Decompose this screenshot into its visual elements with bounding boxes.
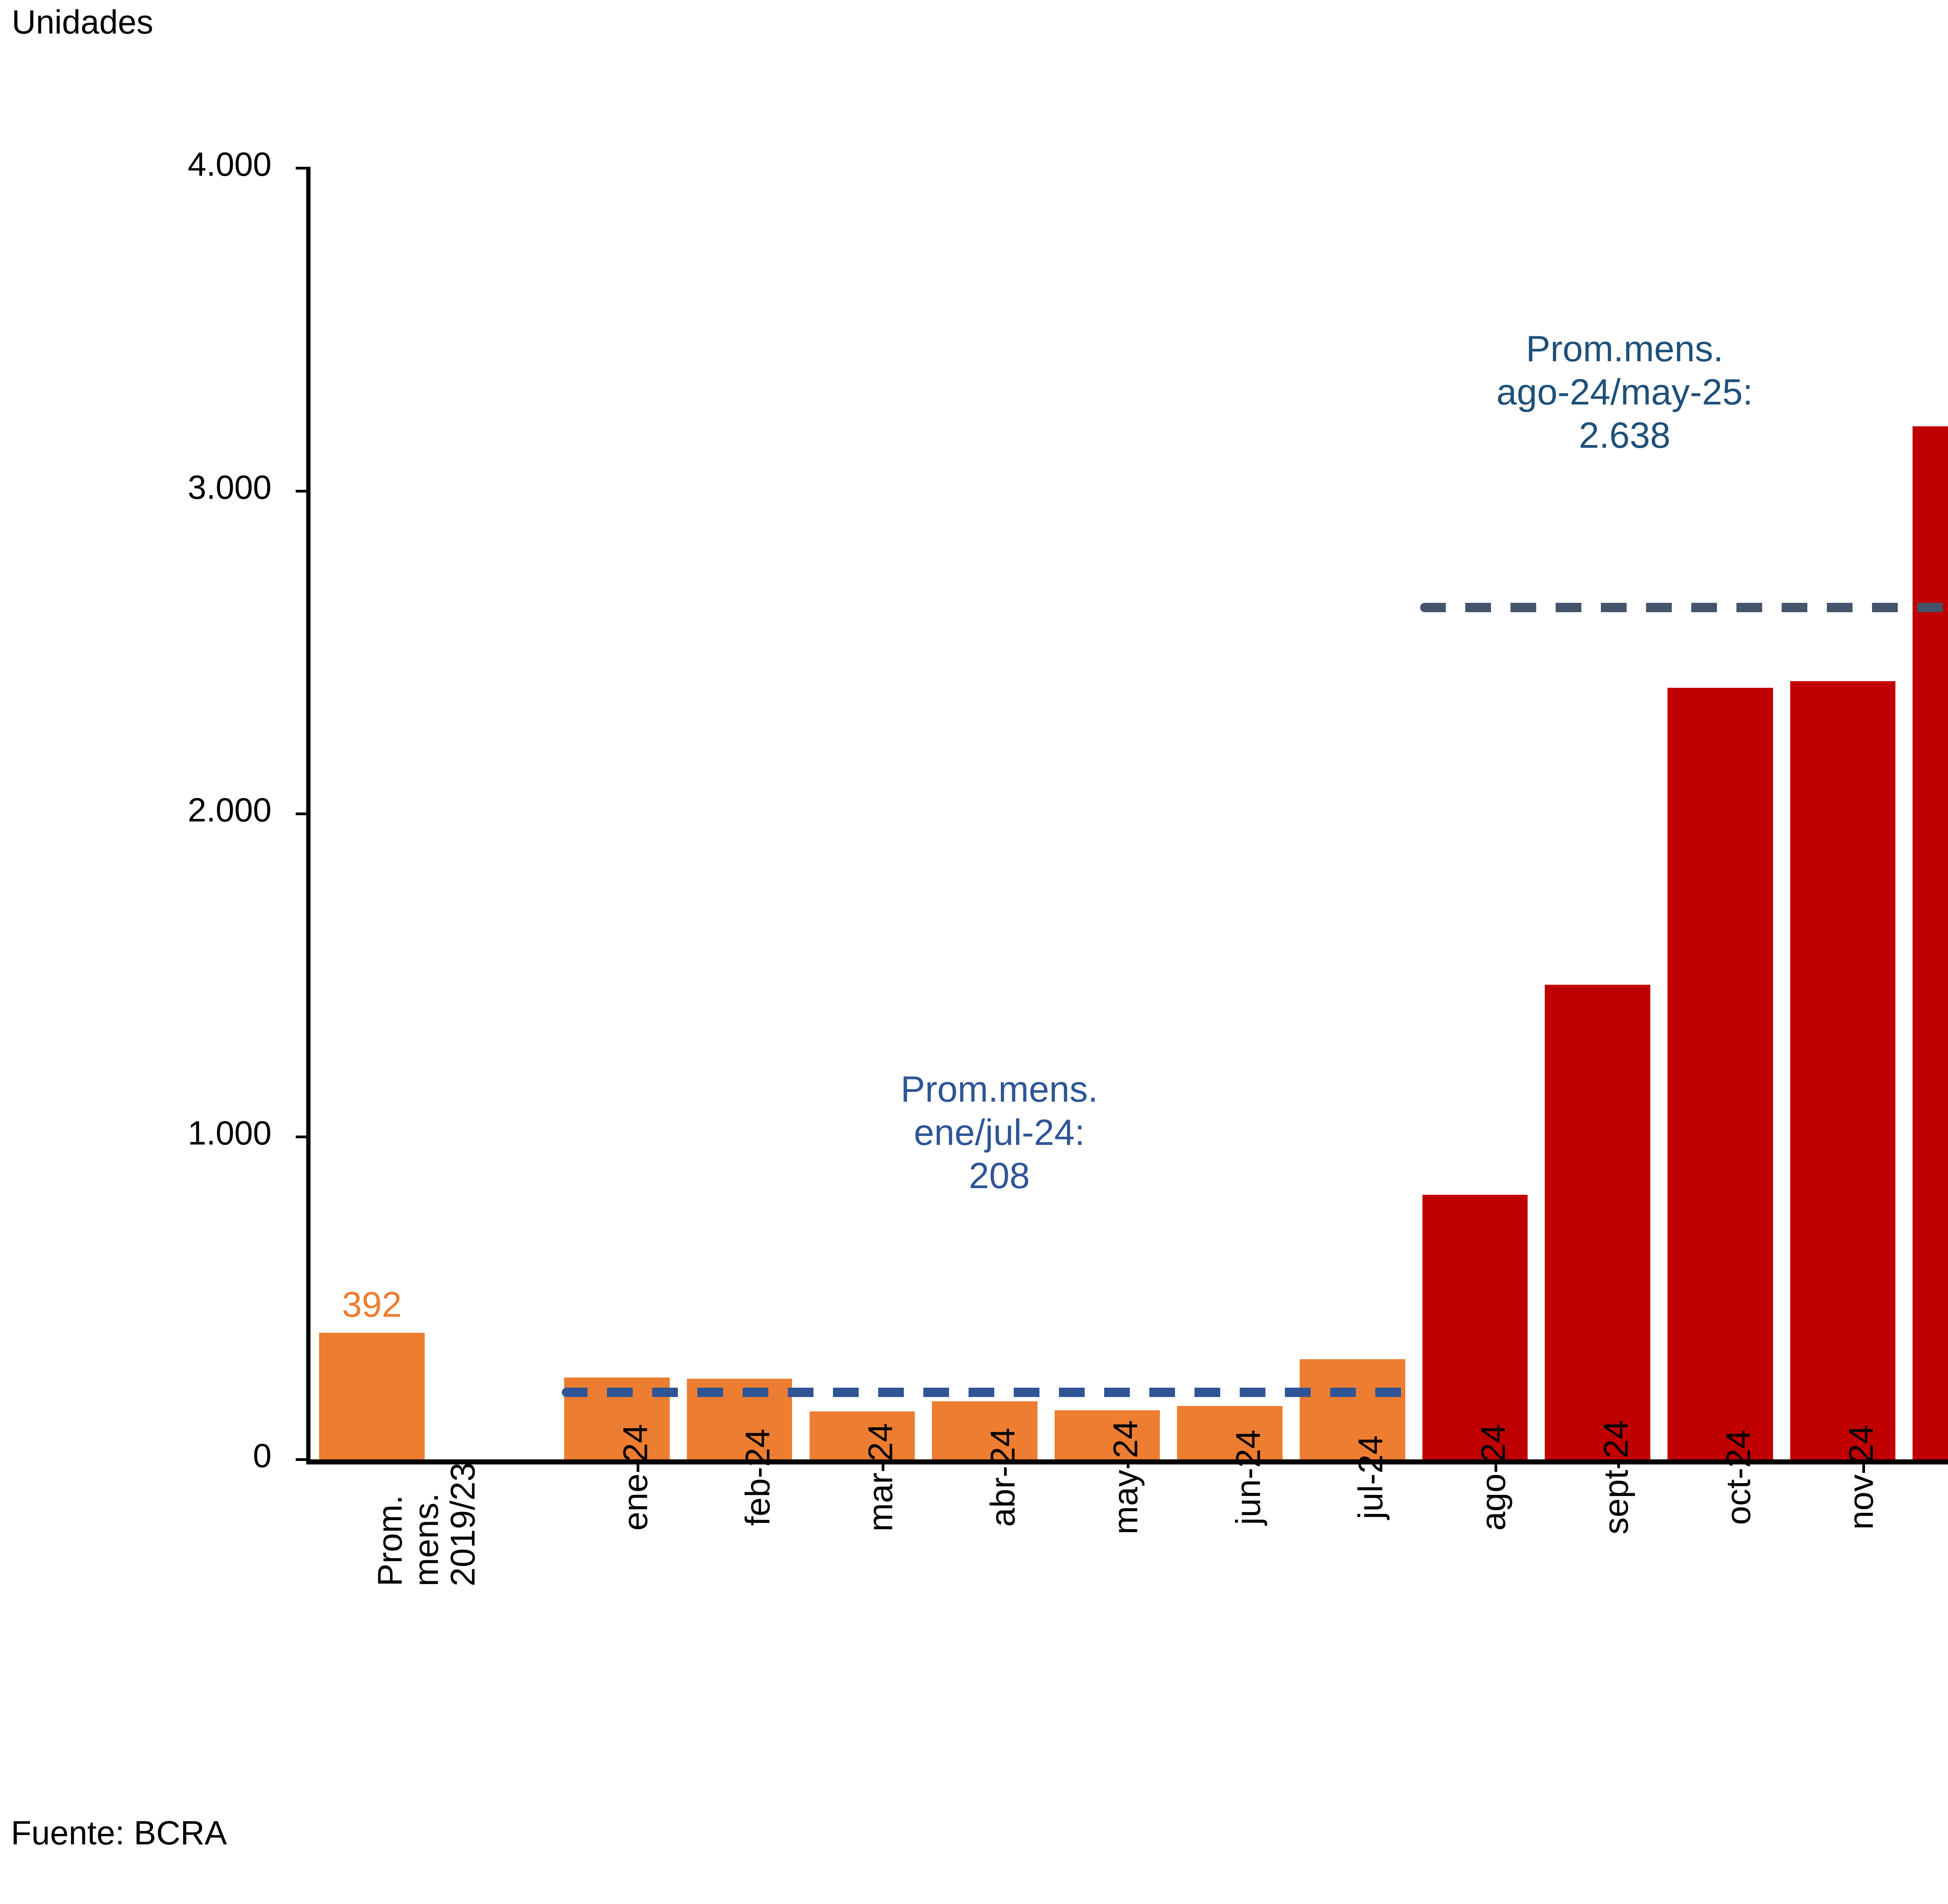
x-axis-label-oct-24: oct-24 — [1720, 1430, 1756, 1525]
x-axis-label-line: nov-24 — [1843, 1425, 1879, 1530]
annotation-prom-mens-ene-jul-24: Prom.mens.ene/jul-24:208 — [901, 1068, 1098, 1198]
bar-nov-24[interactable] — [1790, 681, 1896, 1459]
x-axis-label-jun-24: jun-24 — [1230, 1430, 1266, 1525]
y-axis-tick — [296, 1136, 311, 1138]
x-axis-label-line: Prom. — [372, 1368, 408, 1586]
x-axis-label-nov-24: nov-24 — [1843, 1425, 1879, 1530]
bar-value-label: 392 — [342, 1287, 402, 1323]
x-axis-label-line: 2019/23 — [445, 1368, 481, 1586]
x-axis-label-line: jul-24 — [1352, 1435, 1389, 1519]
annotation-line: ago-24/may-25: — [1496, 371, 1753, 414]
x-axis-label-line: jun-24 — [1230, 1430, 1266, 1525]
y-axis-tick-label: 1.000 — [108, 1114, 272, 1153]
annotation-line: 208 — [901, 1154, 1098, 1198]
x-axis-label-may-24: may-24 — [1107, 1420, 1143, 1534]
y-axis-tick-label: 4.000 — [108, 145, 272, 184]
x-axis-label-line: sept-24 — [1598, 1420, 1634, 1535]
x-axis-label-line: abr-24 — [985, 1428, 1021, 1527]
x-axis-label-ago-24: ago-24 — [1475, 1424, 1511, 1531]
x-axis-label-mar-24: mar-24 — [862, 1423, 898, 1532]
x-axis-label-abr-24: abr-24 — [985, 1428, 1021, 1527]
x-axis-label-prom-mens-2019-23: Prom.mens.2019/23 — [372, 1368, 481, 1586]
x-axis-label-line: ago-24 — [1475, 1424, 1511, 1531]
bar-dic-24[interactable] — [1913, 426, 1948, 1459]
annotation-line: ene/jul-24: — [901, 1111, 1098, 1154]
y-axis-tick — [296, 1458, 311, 1461]
x-axis-label-line: mens. — [408, 1368, 445, 1586]
average-line-ago24-may25 — [1420, 603, 1948, 612]
x-axis-label-feb-24: feb-24 — [739, 1429, 776, 1526]
y-axis-tick-label: 3.000 — [108, 468, 272, 507]
annotation-line: Prom.mens. — [1496, 327, 1753, 371]
source-note: Fuente: BCRA — [11, 1814, 227, 1853]
average-line-ene-jul-24 — [562, 1388, 1407, 1397]
bar-sept-24[interactable] — [1545, 985, 1650, 1459]
x-axis-label-line: feb-24 — [739, 1429, 776, 1526]
x-axis-label-ene-24: ene-24 — [617, 1424, 653, 1531]
annotation-prom-mens-ago24-may25: Prom.mens.ago-24/may-25:2.638 — [1496, 327, 1753, 457]
x-axis-label-line: oct-24 — [1720, 1430, 1756, 1525]
x-axis-label-line: ene-24 — [617, 1424, 653, 1531]
y-axis-tick — [296, 490, 311, 493]
y-axis-tick — [296, 167, 311, 170]
y-axis-tick-label: 2.000 — [108, 791, 272, 830]
y-axis-unit-label: Unidades — [12, 3, 153, 42]
y-axis-tick-label: 0 — [108, 1437, 272, 1475]
x-axis-label-sept-24: sept-24 — [1598, 1420, 1634, 1535]
x-axis-label-jul-24: jul-24 — [1352, 1435, 1389, 1519]
bar-oct-24[interactable] — [1667, 688, 1773, 1459]
x-axis-label-line: mar-24 — [862, 1423, 898, 1532]
bar-ago-24[interactable] — [1422, 1195, 1528, 1459]
x-axis-label-line: may-24 — [1107, 1420, 1143, 1534]
annotation-line: 2.638 — [1496, 414, 1753, 457]
annotation-line: Prom.mens. — [901, 1068, 1098, 1111]
y-axis-tick — [296, 812, 311, 815]
